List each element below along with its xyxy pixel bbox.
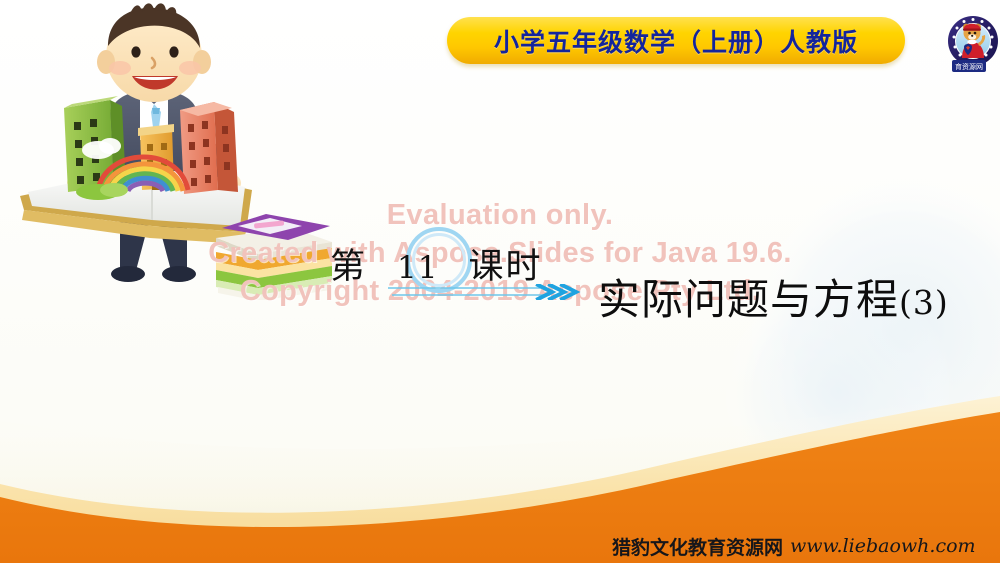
slide-title-group: 第11课时 实际问题与方程(3) <box>330 232 995 322</box>
illustration-svg <box>2 0 342 300</box>
chevron-rule-svg <box>388 284 606 300</box>
boy-with-book-illustration <box>2 0 342 300</box>
svg-text:育资源网: 育资源网 <box>955 62 983 71</box>
lesson-unit: 课时 <box>468 247 542 287</box>
badge-logo-svg: 育资源网 <box>948 6 998 76</box>
footer-credit: 猎豹文化教育资源网 www.liebaowh.com <box>612 532 976 560</box>
lesson-subject: 实际问题与方程 <box>598 275 899 324</box>
lesson-subject-suffix: (3) <box>899 283 949 322</box>
liebao-badge-logo[interactable]: 育资源网 <box>948 6 998 76</box>
course-banner: 小学五年级数学（上册）人教版 <box>447 17 905 64</box>
lesson-subject-line: 实际问题与方程(3) <box>598 266 949 327</box>
lesson-number: 11 <box>367 250 468 286</box>
footer-site-name: 猎豹文化教育资源网 <box>612 533 783 560</box>
footer-site-url[interactable]: www.liebaowh.com <box>790 535 976 557</box>
course-banner-label: 小学五年级数学（上册）人教版 <box>494 23 858 59</box>
chevron-rule-decoration <box>388 284 606 300</box>
slide-canvas: 小学五年级数学（上册）人教版 <box>0 0 1000 563</box>
lesson-number-line: 第11课时 <box>330 238 542 289</box>
lesson-prefix: 第 <box>330 247 367 287</box>
